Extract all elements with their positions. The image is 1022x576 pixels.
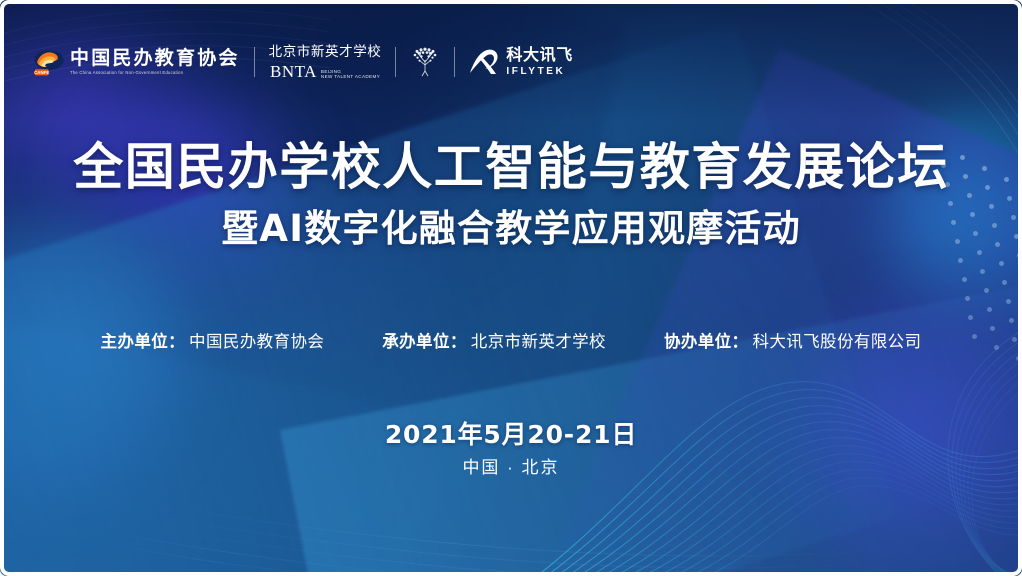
bnta-en-line-2: NEW TALENT ACADEMY: [321, 75, 380, 80]
bnta-abbreviation: BNTA: [270, 63, 317, 80]
svg-text:CANFE: CANFE: [34, 70, 49, 75]
organizer-list: 主办单位： 中国民办教育协会 承办单位： 北京市新英才学校 协办单位： 科大讯飞…: [0, 328, 1022, 352]
organizer-label: 协办单位：: [664, 328, 749, 352]
organizer-item-host: 主办单位： 中国民办教育协会: [101, 328, 325, 352]
iflytek-cn-name: 科大讯飞: [506, 47, 572, 65]
logo-divider-2: [395, 47, 396, 77]
logo-divider-3: [454, 47, 455, 77]
iflytek-en-name: IFLYTEK: [506, 66, 572, 77]
organizer-value: 中国民办教育协会: [189, 328, 324, 352]
logo-divider-1: [254, 47, 255, 77]
iflytek-mark-icon: [469, 49, 499, 75]
tree-logo: [410, 45, 440, 79]
page-title: 全国民办学校人工智能与教育发展论坛: [0, 138, 1022, 197]
canfe-en-name: The China Association for Non-Government…: [70, 71, 240, 76]
canfe-logo: CANFE 中国民办教育协会 The China Association for…: [34, 47, 240, 77]
organizer-value: 科大讯飞股份有限公司: [752, 328, 921, 352]
sponsor-logo-bar: CANFE 中国民办教育协会 The China Association for…: [34, 40, 573, 84]
page-subtitle: 暨AI数字化融合教学应用观摩活动: [0, 207, 1022, 251]
bnta-cn-name: 北京市新英才学校: [269, 44, 382, 60]
organizer-item-coorganizer: 协办单位： 科大讯飞股份有限公司: [664, 328, 922, 352]
conference-banner: CANFE 中国民办教育协会 The China Association for…: [0, 0, 1022, 576]
flame-ribbon-icon: CANFE: [34, 47, 64, 77]
iflytek-logo: 科大讯飞 IFLYTEK: [469, 47, 572, 77]
organizer-label: 主办单位：: [101, 328, 186, 352]
organizer-label: 承办单位：: [382, 328, 467, 352]
canfe-cn-name: 中国民办教育协会: [70, 49, 240, 69]
bnta-logo: 北京市新英才学校 BNTA BEIJING NEW TALENT ACADEMY: [269, 44, 382, 79]
headline-block: 全国民办学校人工智能与教育发展论坛 暨AI数字化融合教学应用观摩活动: [0, 138, 1022, 251]
event-date: 2021年5月20-21日: [0, 419, 1022, 450]
tree-icon: [410, 45, 440, 79]
event-info-block: 2021年5月20-21日 中国 · 北京: [0, 419, 1022, 479]
event-location: 中国 · 北京: [0, 457, 1022, 478]
organizer-item-undertaker: 承办单位： 北京市新英才学校: [382, 328, 606, 352]
organizer-value: 北京市新英才学校: [471, 328, 606, 352]
